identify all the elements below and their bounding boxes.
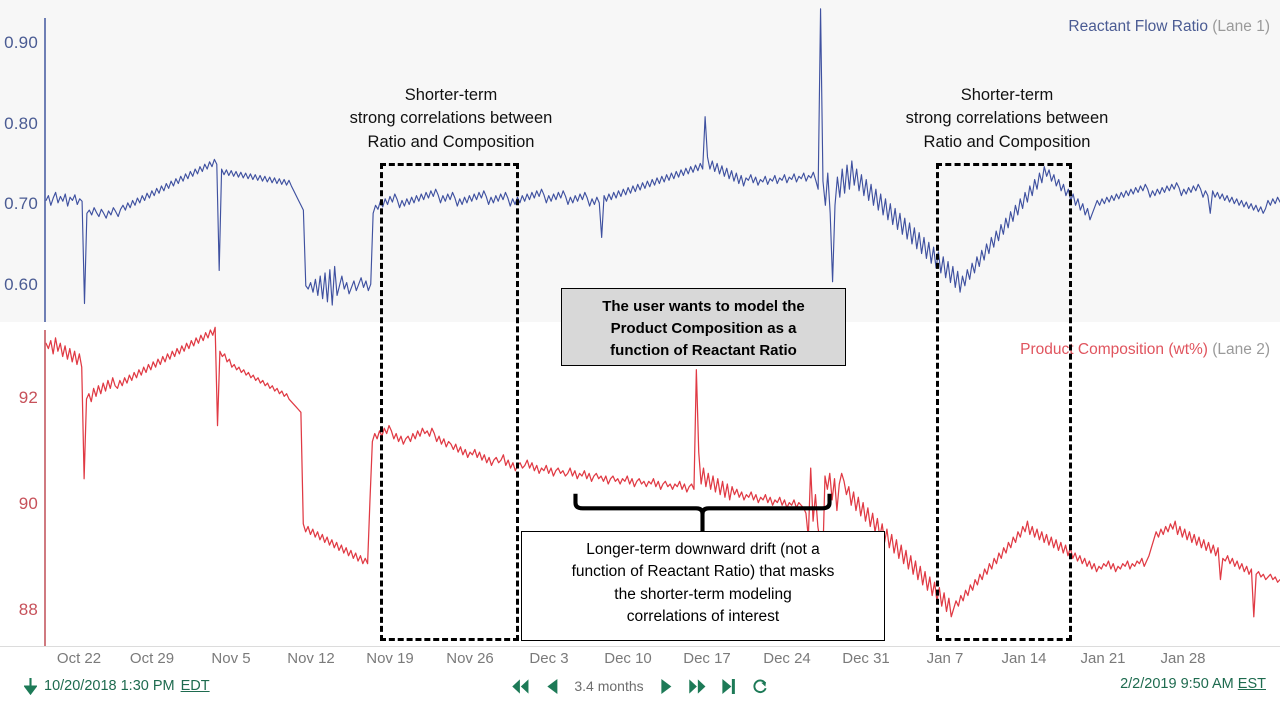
x-axis-tick-labels: Oct 22Oct 29Nov 5Nov 12Nov 19Nov 26Dec 3… <box>0 650 1280 674</box>
region-of-interest-box-1 <box>380 163 519 641</box>
step-forward-icon[interactable] <box>657 676 677 696</box>
callout-model-goal: The user wants to model the Product Comp… <box>561 288 846 366</box>
x-tick-label: Jan 21 <box>1080 650 1125 667</box>
end-timezone-label[interactable]: EST <box>1238 676 1266 692</box>
lane2-title-suffix: (Lane 2) <box>1212 341 1270 358</box>
lane1-title: Reactant Flow Ratio (Lane 1) <box>1068 18 1270 36</box>
x-tick-label: Nov 5 <box>211 650 250 667</box>
time-navigation-toolbar: 10/20/2018 1:30 PM EDT 3.4 months <box>0 676 1280 706</box>
annotation-left: Shorter-term strong correlations between… <box>306 84 596 154</box>
annotation-right: Shorter-term strong correlations between… <box>862 84 1152 154</box>
x-tick-label: Jan 14 <box>1001 650 1046 667</box>
download-arrow-icon[interactable] <box>22 676 38 696</box>
callout-drift-explanation: Longer-term downward drift (not a functi… <box>521 531 885 641</box>
toolbar-end-time-group: 2/2/2019 9:50 AM EST <box>1120 676 1266 692</box>
x-tick-label: Jan 28 <box>1160 650 1205 667</box>
x-tick-label: Dec 17 <box>683 650 731 667</box>
x-tick-label: Dec 31 <box>842 650 890 667</box>
lane1-title-name: Reactant Flow Ratio <box>1068 18 1208 35</box>
toolbar-start-time-group: 10/20/2018 1:30 PM EDT <box>22 676 210 696</box>
x-tick-label: Nov 12 <box>287 650 335 667</box>
skip-forward-fast-icon[interactable] <box>688 676 708 696</box>
x-axis-rule <box>0 646 1280 647</box>
start-time-label: 10/20/2018 1:30 PM <box>44 678 175 694</box>
x-tick-label: Nov 26 <box>446 650 494 667</box>
refresh-icon[interactable] <box>750 676 770 696</box>
x-tick-label: Jan 7 <box>927 650 964 667</box>
x-tick-label: Dec 3 <box>529 650 568 667</box>
trend-chart-page: 0.900.800.700.60 929088 Reactant Flow Ra… <box>0 0 1280 720</box>
x-tick-label: Nov 19 <box>366 650 414 667</box>
start-timezone-label[interactable]: EDT <box>181 678 210 694</box>
x-tick-label: Dec 24 <box>763 650 811 667</box>
region-of-interest-box-2 <box>936 163 1072 641</box>
toolbar-nav-group: 3.4 months <box>510 676 769 696</box>
x-tick-label: Oct 22 <box>57 650 101 667</box>
skip-back-fast-icon[interactable] <box>510 676 530 696</box>
step-back-icon[interactable] <box>541 676 561 696</box>
x-tick-label: Oct 29 <box>130 650 174 667</box>
jump-to-end-icon[interactable] <box>719 676 739 696</box>
end-time-label: 2/2/2019 9:50 AM <box>1120 676 1234 692</box>
x-tick-label: Dec 10 <box>604 650 652 667</box>
time-range-label[interactable]: 3.4 months <box>572 678 645 694</box>
lane1-title-suffix: (Lane 1) <box>1212 18 1270 35</box>
lane1-trace[interactable] <box>0 0 1280 322</box>
